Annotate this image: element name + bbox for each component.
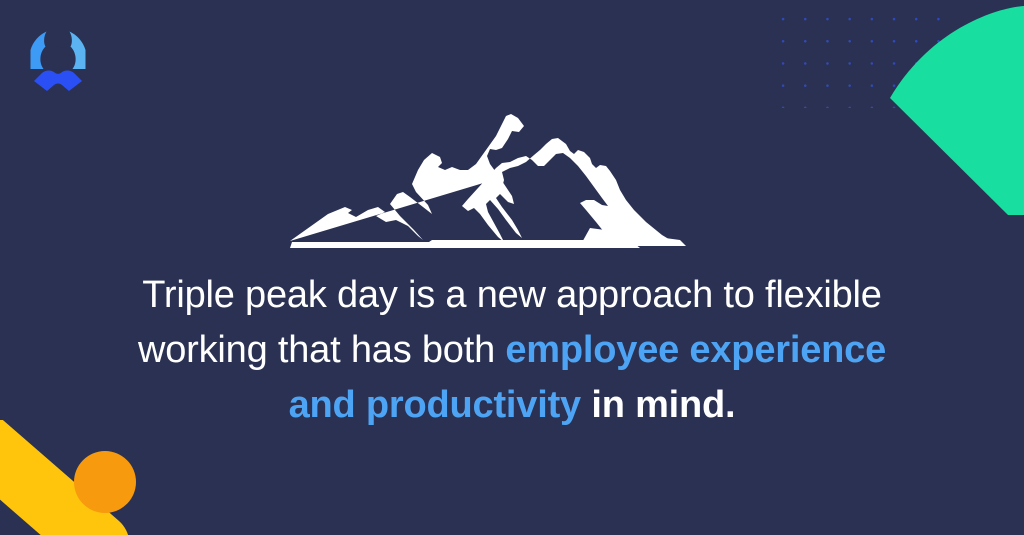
promo-banner: Triple peak day is a new approach to fle… [0,0,1024,535]
yellow-bar-and-orange-dot-icon [0,420,200,535]
brand-logo[interactable] [22,22,94,94]
three-petal-circle-logo-icon [22,22,94,94]
mountain-illustration [290,108,690,248]
orange-circle [74,451,136,513]
green-quarter-circle-container [890,0,1024,215]
bottom-left-decoration-container [0,420,200,535]
logo-center-hole [47,47,70,70]
mountain-range-silhouette-icon [290,108,690,248]
green-quarter-circle-icon [890,0,1024,215]
headline-part2: in mind [581,384,725,426]
headline: Triple peak day is a new approach to fle… [102,268,922,433]
logo-petal-left [31,32,47,70]
headline-period: . [725,384,735,426]
logo-petal-bottom [34,70,82,91]
logo-petal-right [70,32,86,70]
